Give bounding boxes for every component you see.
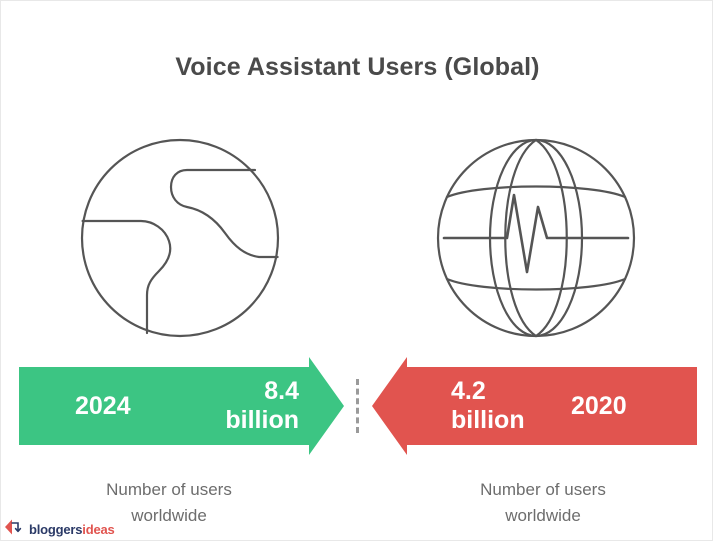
value-number-2020: 4.2 [451, 377, 581, 407]
caption-left-line1: Number of users [49, 477, 289, 503]
logo-text-primary: bloggers [29, 522, 82, 537]
dashed-divider [356, 379, 359, 433]
logo-text-secondary: ideas [82, 522, 114, 537]
bloggersideas-logo: bloggersideas [5, 519, 115, 539]
value-number-2024: 8.4 [189, 377, 299, 407]
infographic-canvas: Voice Assistant Users (Global) [0, 0, 713, 541]
globe-pulse-icon [435, 137, 637, 344]
label-value-2020: 4.2 billion [451, 357, 581, 455]
bloggersideas-arrow-mark [5, 518, 25, 541]
caption-right: Number of users worldwide [423, 477, 663, 529]
value-unit-2024: billion [189, 406, 299, 436]
globe-continents-icon [79, 137, 281, 344]
label-year-2020: 2020 [571, 357, 671, 455]
page-title: Voice Assistant Users (Global) [1, 53, 713, 82]
caption-right-line1: Number of users [423, 477, 663, 503]
value-unit-2020: billion [451, 406, 581, 436]
label-value-2024: 8.4 billion [189, 357, 299, 455]
label-year-2024: 2024 [75, 357, 165, 455]
caption-right-line2: worldwide [423, 503, 663, 529]
logo-text: bloggersideas [29, 522, 115, 537]
